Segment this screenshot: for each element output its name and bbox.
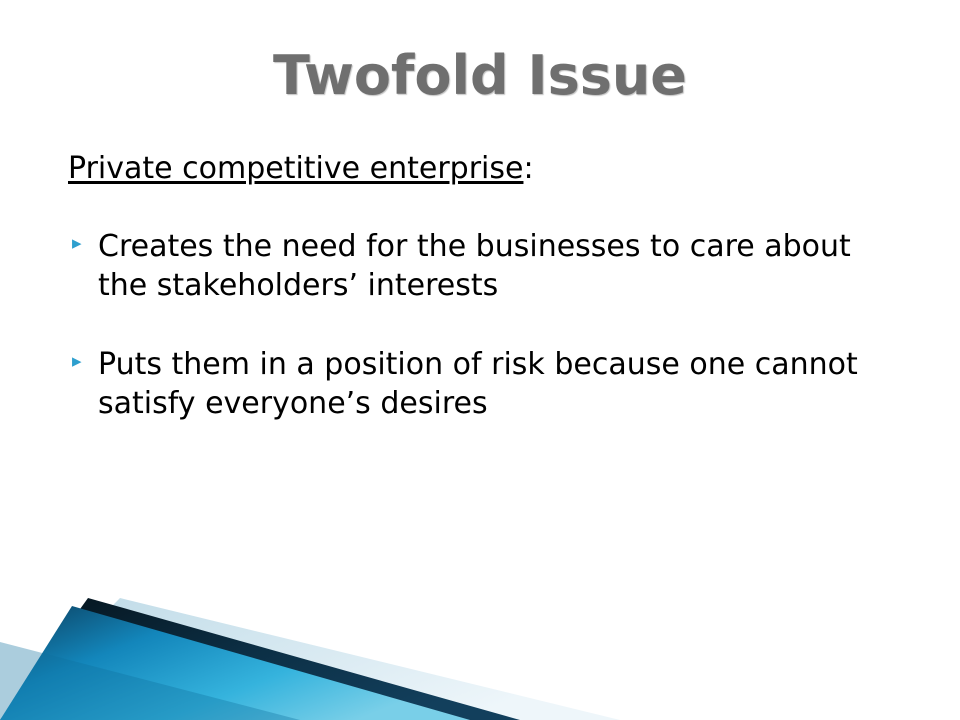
lead-line-trailing: : [523, 151, 533, 186]
list-item-text: Creates the need for the businesses to c… [98, 227, 870, 305]
lead-line-underlined: Private competitive enterprise [68, 151, 523, 186]
list-item: ▸ Creates the need for the businesses to… [68, 227, 898, 305]
list-item-text: Puts them in a position of risk because … [98, 345, 870, 423]
triangle-bullet-icon: ▸ [68, 227, 98, 260]
slide: Twofold Issue Private competitive enterp… [0, 0, 960, 720]
slide-body: Private competitive enterprise: ▸ Create… [68, 152, 898, 463]
decorative-corner-graphic [0, 580, 620, 720]
list-item: ▸ Puts them in a position of risk becaus… [68, 345, 898, 423]
triangle-bullet-icon: ▸ [68, 345, 98, 378]
lead-line: Private competitive enterprise: [68, 152, 898, 187]
page-title: Twofold Issue [0, 44, 960, 107]
